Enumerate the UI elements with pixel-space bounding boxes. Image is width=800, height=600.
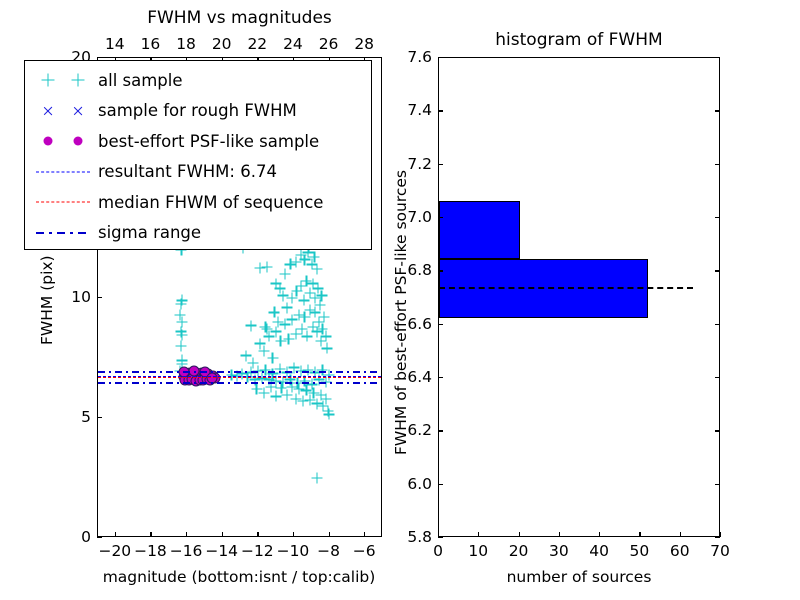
right-ytick-label: 6.6	[388, 315, 432, 333]
legend-label: best-effort PSF-like sample	[94, 132, 319, 151]
scatter-point-all-sample	[323, 409, 334, 420]
scatter-point-all-sample	[321, 393, 332, 404]
legend-row[interactable]: sample for rough FWHM	[25, 96, 371, 127]
left-xtick-label-top: 18	[176, 35, 196, 53]
hline-sigma-range-upper	[98, 371, 381, 373]
left-ytick-label: 10	[49, 288, 91, 306]
scatter-point-all-sample	[175, 299, 186, 310]
right-xtick	[680, 532, 681, 537]
legend-row[interactable]: sigma range	[25, 218, 371, 249]
legend-handle	[32, 67, 94, 93]
left-xtick-label-bottom: −10	[277, 542, 310, 560]
left-xtick-label-bottom: −12	[241, 542, 274, 560]
legend-handle	[32, 220, 94, 246]
right-xtick-label: 30	[549, 542, 569, 560]
scatter-point-all-sample	[262, 261, 273, 272]
dashed-line-icon	[36, 202, 90, 203]
dashed-line-icon	[36, 171, 90, 172]
scatter-point-all-sample	[321, 343, 332, 354]
scatter-point-all-sample	[316, 290, 327, 301]
legend-row[interactable]: median FHWM of sequence	[25, 187, 371, 218]
right-xtick-label: 40	[589, 542, 609, 560]
histogram-refline-resultant-fwhm	[439, 287, 693, 289]
histogram-axes[interactable]	[438, 57, 720, 537]
legend-row[interactable]: best-effort PSF-like sample	[25, 126, 371, 157]
right-xtick	[599, 532, 600, 537]
scatter-point-all-sample	[176, 330, 187, 341]
legend-label: sample for rough FWHM	[94, 101, 297, 120]
right-ytick-mirror	[715, 377, 720, 378]
left-xtick-label-bottom: −16	[170, 542, 203, 560]
right-ytick	[438, 270, 443, 271]
legend-label: resultant FWHM: 6.74	[94, 162, 277, 181]
legend-row[interactable]: all sample	[25, 65, 371, 96]
right-xtick-label: 70	[710, 542, 730, 560]
dashdot-line-icon	[36, 232, 90, 234]
right-ytick-mirror	[715, 270, 720, 271]
left-xaxis-title: magnitude (bottom:isnt / top:calib)	[103, 568, 376, 586]
right-xtick	[519, 532, 520, 537]
right-ytick-label: 6.4	[388, 368, 432, 386]
right-xtick	[559, 532, 560, 537]
right-ytick-label: 7.6	[388, 48, 432, 66]
legend[interactable]: all samplesample for rough FWHMbest-effo…	[24, 60, 372, 250]
scatter-point-all-sample	[246, 320, 257, 331]
left-xtick-label-bottom: −20	[98, 542, 131, 560]
left-xtick-bottom	[329, 532, 330, 537]
left-xtick-bottom	[257, 532, 258, 537]
right-ytick	[438, 217, 443, 218]
right-ytick	[438, 164, 443, 165]
figure-canvas: FWHM vs magnitudes magnitude (bottom:isn…	[0, 0, 800, 600]
left-xtick-label-top: 20	[212, 35, 232, 53]
right-xtick-label: 10	[468, 542, 488, 560]
right-ytick-mirror	[715, 57, 720, 58]
left-xtick-label-bottom: −18	[134, 542, 167, 560]
left-xtick-bottom	[115, 532, 116, 537]
right-ytick	[438, 324, 443, 325]
right-ytick-label: 5.8	[388, 528, 432, 546]
left-xtick-label-top: 22	[247, 35, 267, 53]
right-ytick-mirror	[715, 484, 720, 485]
right-ytick	[438, 57, 443, 58]
left-xtick-label-top: 14	[105, 35, 125, 53]
scatter-point-all-sample	[319, 312, 330, 323]
left-xtick-bottom	[222, 532, 223, 537]
hline-median-fhwm-of-sequence	[98, 377, 381, 378]
scatter-point-all-sample	[312, 264, 323, 275]
right-xtick	[478, 532, 479, 537]
right-ytick-label: 7.4	[388, 101, 432, 119]
hline-sigma-range-lower	[98, 382, 381, 384]
right-xtick	[720, 532, 721, 537]
cross-icon	[73, 105, 84, 116]
right-ytick-label: 6.0	[388, 475, 432, 493]
right-ytick	[438, 537, 443, 538]
left-xtick-bottom	[293, 532, 294, 537]
right-ytick-label: 7.0	[388, 208, 432, 226]
right-ytick	[438, 110, 443, 111]
scatter-point-all-sample	[267, 353, 278, 364]
right-xaxis-title: number of sources	[507, 568, 652, 586]
legend-handle	[32, 189, 94, 215]
scatter-point-all-sample	[321, 331, 332, 342]
right-xtick-label: 60	[670, 542, 690, 560]
left-xtick-bottom	[150, 532, 151, 537]
right-xtick-label: 0	[433, 542, 443, 560]
histogram-bar[interactable]	[439, 201, 520, 260]
left-xtick-bottom	[186, 532, 187, 537]
left-xtick-label-bottom: −6	[353, 542, 376, 560]
scatter-point-all-sample	[175, 341, 186, 352]
scatter-point-all-sample	[309, 252, 320, 263]
right-ytick	[438, 377, 443, 378]
scatter-point-all-sample	[281, 302, 292, 313]
histogram-plot-area	[439, 58, 719, 536]
left-plot-title: FWHM vs magnitudes	[97, 8, 382, 28]
plus-icon	[42, 74, 55, 87]
legend-label: median FHWM of sequence	[94, 193, 323, 212]
left-ytick	[97, 417, 102, 418]
right-xtick	[639, 532, 640, 537]
right-ytick-mirror	[715, 217, 720, 218]
left-xtick-label-top: 24	[283, 35, 303, 53]
left-xtick-label-top: 28	[354, 35, 374, 53]
scatter-point-all-sample	[312, 473, 323, 484]
right-ytick-mirror	[715, 164, 720, 165]
right-xtick-label: 50	[630, 542, 650, 560]
left-ytick-label: 0	[49, 528, 91, 546]
right-ytick-label: 7.2	[388, 155, 432, 173]
left-ytick-label: 5	[49, 408, 91, 426]
left-xtick-label-bottom: −14	[205, 542, 238, 560]
left-ytick	[97, 297, 102, 298]
right-ytick-mirror	[715, 324, 720, 325]
left-ytick	[97, 537, 102, 538]
legend-label: sigma range	[94, 223, 201, 242]
right-ytick-label: 6.2	[388, 421, 432, 439]
left-xtick-label-top: 16	[141, 35, 161, 53]
right-ytick	[438, 484, 443, 485]
circle-icon	[74, 137, 83, 146]
right-ytick-mirror	[715, 537, 720, 538]
legend-handle	[32, 128, 94, 154]
left-ytick	[97, 57, 102, 58]
left-xtick-label-bottom: −8	[317, 542, 340, 560]
circle-icon	[44, 137, 53, 146]
scatter-point-all-sample	[280, 269, 291, 280]
right-ytick-mirror	[715, 110, 720, 111]
right-xtick-label: 20	[509, 542, 529, 560]
legend-label: all sample	[94, 71, 183, 90]
legend-row[interactable]: resultant FWHM: 6.74	[25, 157, 371, 188]
right-plot-title: histogram of FWHM	[438, 30, 720, 50]
right-ytick-mirror	[715, 430, 720, 431]
legend-handle	[32, 98, 94, 124]
left-xtick-label-top: 26	[319, 35, 339, 53]
plus-icon	[72, 74, 85, 87]
legend-handle	[32, 159, 94, 185]
left-xtick-bottom	[364, 532, 365, 537]
right-ytick	[438, 430, 443, 431]
right-ytick-label: 6.8	[388, 261, 432, 279]
cross-icon	[43, 105, 54, 116]
